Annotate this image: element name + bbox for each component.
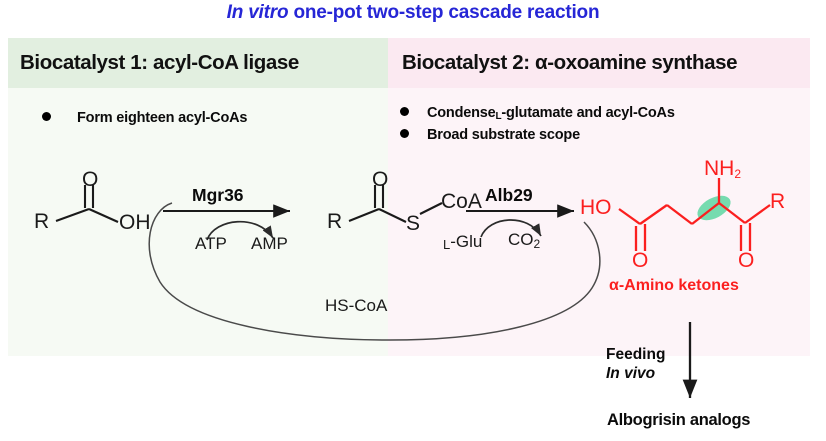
atom-label-O-acid-product: O	[632, 249, 648, 273]
in-vivo-line: In vivo	[606, 364, 665, 383]
atom-nh2-sub: 2	[734, 167, 741, 181]
list-item: Condense L-glutamate and acyl-CoAs	[400, 105, 675, 121]
cofactor-label-co2: CO2	[508, 230, 540, 250]
atom-label-CoA-intermediate: CoA	[441, 190, 482, 214]
atom-label-R-substrate: R	[34, 210, 49, 234]
bullet-dot-icon	[400, 129, 409, 138]
atom-nh-text: NH	[704, 157, 734, 180]
atom-label-O-intermediate: O	[372, 168, 388, 192]
bullet-dot-icon	[42, 112, 51, 121]
cofactor-label-atp: ATP	[195, 234, 227, 254]
albogrisin-analogs-label: Albogrisin analogs	[607, 411, 750, 430]
figure-title: In vitro one-pot two-step cascade reacti…	[0, 2, 826, 24]
panel-2-bullet-list: Condense L-glutamate and acyl-CoAs Broad…	[400, 105, 675, 149]
feeding-in-vivo-label: Feeding In vivo	[606, 345, 665, 383]
panel-2-header: Biocatalyst 2: α-oxoamine synthase	[388, 38, 810, 88]
bullet-text-sub: L	[496, 111, 502, 122]
cofactor-glu-text: -Glu	[450, 232, 482, 251]
panel-1-bullet-list: Form eighteen acyl-CoAs	[42, 110, 247, 132]
atom-label-R-intermediate: R	[327, 210, 342, 234]
list-item: Broad substrate scope	[400, 127, 675, 143]
figure-title-rest: one-pot two-step cascade reaction	[288, 2, 599, 23]
cofactor-label-l-glu: L-Glu	[443, 232, 482, 252]
atom-label-O-ketone-product: O	[738, 249, 754, 273]
atom-label-HO-product: HO	[580, 196, 612, 220]
cofactor-label-amp: AMP	[251, 234, 288, 254]
atom-label-OH-substrate: OH	[119, 211, 151, 235]
panel-1-header: Biocatalyst 1: acyl-CoA ligase	[8, 38, 388, 88]
enzyme-label-mgr36: Mgr36	[192, 185, 244, 206]
bullet-text: Broad substrate scope	[427, 127, 580, 143]
list-item: Form eighteen acyl-CoAs	[42, 110, 247, 126]
bullet-text-post: -glutamate and acyl-CoAs	[501, 105, 674, 121]
bullet-text: Form eighteen acyl-CoAs	[77, 110, 247, 126]
enzyme-label-alb29: Alb29	[485, 185, 533, 206]
recycle-label-hs-coa: HS-CoA	[325, 296, 387, 316]
cofactor-l-prefix: L	[443, 237, 450, 252]
product-name-label: α-Amino ketones	[609, 277, 739, 295]
bullet-text-pre: Condense	[427, 105, 496, 121]
atom-label-NH2-product: NH2	[704, 157, 741, 181]
atom-label-O-substrate: O	[82, 168, 98, 192]
atom-label-S-intermediate: S	[406, 212, 420, 236]
bullet-dot-icon	[400, 107, 409, 116]
cofactor-co-text: CO	[508, 230, 534, 249]
atom-label-R-product: R	[770, 190, 785, 214]
feeding-line: Feeding	[606, 345, 665, 364]
figure-canvas: In vitro one-pot two-step cascade reacti…	[0, 0, 826, 441]
figure-title-italic: In vitro	[227, 2, 289, 23]
cofactor-co2-sub: 2	[534, 237, 541, 251]
